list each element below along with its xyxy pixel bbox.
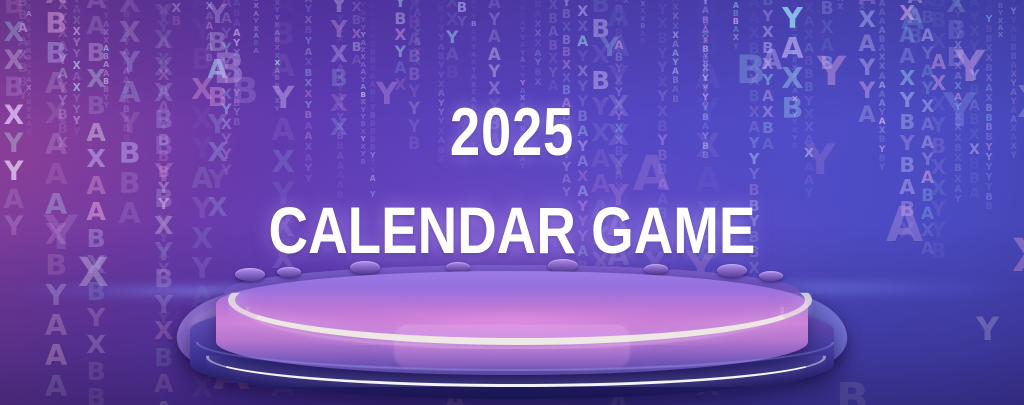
stage-stud bbox=[277, 267, 301, 277]
stage-stud bbox=[350, 261, 380, 274]
calendar-game-banner: BBXXXBXXBXYYAYBAXXAAYXBBAAXBBYAAABBYBXBA… bbox=[0, 0, 1024, 405]
stage-stud bbox=[644, 264, 668, 274]
stage-stud bbox=[759, 271, 783, 281]
podium-stage bbox=[0, 245, 1024, 405]
stage-stud bbox=[717, 264, 747, 277]
stage-stud bbox=[235, 268, 265, 281]
